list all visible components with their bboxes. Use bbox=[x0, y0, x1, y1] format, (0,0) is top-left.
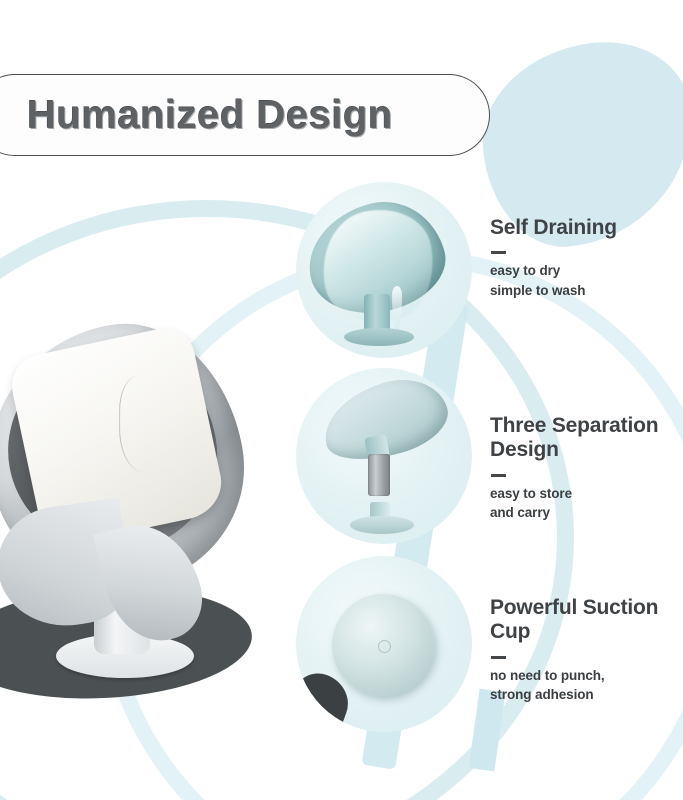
feature-title: Self Draining bbox=[490, 216, 683, 240]
divider-dash bbox=[491, 474, 506, 477]
title-pill: Humanized Design bbox=[0, 74, 490, 156]
water-drip bbox=[392, 286, 402, 330]
suction-cup-center-nub bbox=[378, 640, 391, 653]
feature-image-self-draining bbox=[296, 182, 472, 358]
feature-image-suction-cup bbox=[296, 556, 472, 732]
feature-subline-2: and carry bbox=[490, 503, 683, 523]
draining-dish-base bbox=[344, 328, 414, 346]
feature-text-self-draining: Self Draining easy to dry simple to wash bbox=[490, 182, 683, 301]
feature-text-three-separation: Three Separation Design easy to store an… bbox=[490, 368, 683, 523]
feature-subline-1: easy to dry bbox=[490, 261, 683, 281]
feature-subline-1: no need to punch, bbox=[490, 666, 683, 686]
feature-title: Three Separation Design bbox=[490, 414, 683, 463]
feature-row-three-separation: Three Separation Design easy to store an… bbox=[296, 368, 683, 544]
separated-suction-cup bbox=[350, 516, 414, 534]
hero-product-image bbox=[0, 316, 316, 716]
feature-subline-2: strong adhesion bbox=[490, 685, 683, 705]
feature-row-self-draining: Self Draining easy to dry simple to wash bbox=[296, 182, 683, 358]
feature-image-three-separation bbox=[296, 368, 472, 544]
feature-text-suction-cup: Powerful Suction Cup no need to punch, s… bbox=[490, 556, 683, 705]
feature-title: Powerful Suction Cup bbox=[490, 596, 683, 645]
page-title: Humanized Design bbox=[27, 93, 393, 138]
feature-row-suction-cup: Powerful Suction Cup no need to punch, s… bbox=[296, 556, 683, 732]
infographic-canvas: Humanized Design Self Draining easy to d… bbox=[0, 0, 683, 800]
divider-dash bbox=[491, 656, 506, 659]
separated-metal-rod bbox=[368, 454, 390, 496]
feature-subline-2: simple to wash bbox=[490, 281, 683, 301]
divider-dash bbox=[491, 251, 506, 254]
feature-subline-1: easy to store bbox=[490, 484, 683, 504]
